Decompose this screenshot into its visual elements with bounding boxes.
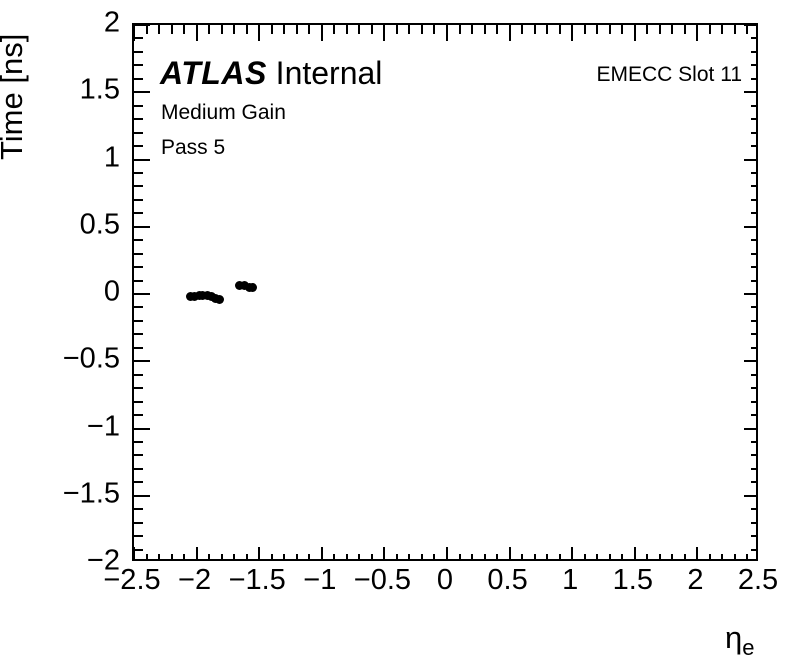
y-axis-tick: [134, 535, 143, 537]
x-axis-tick: [496, 554, 498, 559]
y-axis-tick: [751, 535, 756, 537]
x-axis-tick: [721, 554, 723, 559]
y-tick-label: 2: [104, 9, 120, 38]
x-axis-tick: [433, 25, 435, 34]
y-axis-tick: [134, 64, 143, 66]
x-axis-tick: [271, 554, 273, 559]
y-axis-tick: [134, 132, 143, 134]
x-axis-tick: [571, 547, 573, 559]
y-axis-tick: [751, 51, 756, 53]
x-axis-tick: [321, 547, 323, 559]
x-axis-tick: [596, 25, 598, 34]
x-axis-tick: [396, 554, 398, 559]
x-axis-tick: [246, 554, 248, 559]
x-axis-tick: [696, 25, 698, 41]
y-axis-tick: [134, 347, 143, 349]
x-axis-tick: [158, 25, 160, 34]
x-axis-tick: [446, 25, 448, 41]
y-axis-tick: [134, 468, 143, 470]
y-axis-tick: [751, 401, 756, 403]
y-axis-tick: [751, 37, 756, 39]
x-axis-tick: [659, 554, 661, 559]
x-axis-tick: [509, 547, 511, 559]
y-axis-tick: [744, 91, 756, 93]
x-axis-tick: [634, 547, 636, 559]
x-axis-tick: [471, 25, 473, 34]
y-axis-tick: [744, 428, 756, 430]
y-axis-tick: [134, 145, 143, 147]
y-axis-tick: [134, 414, 143, 416]
x-axis-tick: [171, 554, 173, 559]
y-axis-tick: [134, 454, 143, 456]
y-axis-title: Time [ns]: [0, 34, 30, 160]
x-axis-tick: [271, 25, 273, 34]
x-axis-tick: [596, 554, 598, 559]
x-axis-tick: [609, 554, 611, 559]
x-axis-tick: [571, 25, 573, 41]
x-axis-tick: [746, 554, 748, 559]
x-axis-tick: [258, 547, 260, 559]
x-axis-tick: [484, 25, 486, 34]
y-axis-tick: [744, 293, 756, 295]
y-axis-tick: [751, 347, 756, 349]
x-axis-tick: [521, 554, 523, 559]
x-axis-tick: [634, 25, 636, 41]
x-axis-tick: [559, 554, 561, 559]
y-axis-tick: [751, 387, 756, 389]
x-axis-tick: [734, 25, 736, 34]
y-tick-label: 0.5: [80, 210, 120, 239]
y-axis-tick: [134, 118, 143, 120]
y-axis-tick: [134, 51, 143, 53]
y-axis-tick: [134, 91, 150, 93]
y-axis-tick: [134, 212, 143, 214]
x-axis-tick: [446, 547, 448, 559]
y-axis-tick: [751, 145, 756, 147]
x-axis-tick: [734, 554, 736, 559]
y-axis-tick: [134, 293, 150, 295]
x-tick-label: −1: [303, 566, 336, 595]
y-axis-tick: [134, 387, 143, 389]
x-axis-tick: [609, 25, 611, 34]
y-axis-tick: [751, 64, 756, 66]
y-axis-tick: [751, 266, 756, 268]
x-axis-tick: [721, 25, 723, 34]
x-axis-tick: [421, 554, 423, 559]
y-axis-tick: [134, 172, 143, 174]
x-axis-tick: [471, 554, 473, 559]
y-axis-tick: [134, 333, 143, 335]
x-axis-tick: [709, 25, 711, 34]
x-axis-tick: [534, 554, 536, 559]
x-axis-tick: [684, 554, 686, 559]
y-axis-tick: [134, 481, 143, 483]
y-axis-tick: [751, 441, 756, 443]
y-axis-tick: [751, 374, 756, 376]
x-axis-tick: [383, 547, 385, 559]
x-axis-tick: [709, 554, 711, 559]
atlas-word: ATLAS: [160, 55, 267, 91]
y-axis-tick: [134, 199, 143, 201]
y-axis-tick: [744, 495, 756, 497]
x-axis-tick: [333, 25, 335, 34]
x-tick-label: 0.5: [487, 566, 527, 595]
y-axis-tick: [751, 212, 756, 214]
y-axis-tick: [134, 159, 150, 161]
x-axis-tick: [358, 25, 360, 34]
x-axis-tick: [421, 25, 423, 34]
x-axis-tick: [208, 25, 210, 34]
y-axis-tick: [751, 306, 756, 308]
y-axis-tick: [751, 454, 756, 456]
x-axis-tick: [459, 554, 461, 559]
x-axis-tick: [346, 25, 348, 34]
y-axis-tick: [751, 549, 756, 551]
x-axis-title-symbol: η: [725, 620, 742, 655]
x-axis-tick: [459, 25, 461, 34]
x-tick-label: −2: [178, 566, 211, 595]
y-axis-tick: [134, 185, 143, 187]
y-axis-tick: [134, 320, 143, 322]
x-tick-label: 1: [562, 566, 578, 595]
y-axis-tick: [134, 549, 143, 551]
plot-frame: ATLAS Internal Medium Gain Pass 5 EMECC …: [132, 23, 758, 561]
y-tick-label: −1: [87, 412, 120, 441]
atlas-label: ATLAS Internal: [160, 55, 382, 92]
x-tick-label: 1.5: [613, 566, 653, 595]
y-axis-tick: [744, 159, 756, 161]
x-axis-tick: [671, 25, 673, 34]
x-axis-tick: [158, 554, 160, 559]
x-axis-tick: [584, 554, 586, 559]
x-axis-tick: [296, 554, 298, 559]
annotation-slot: EMECC Slot 11: [597, 63, 743, 87]
x-axis-tick: [183, 554, 185, 559]
x-axis-tick: [233, 554, 235, 559]
y-axis-tick: [751, 132, 756, 134]
x-tick-label: −0.5: [354, 566, 411, 595]
y-axis-tick: [134, 226, 150, 228]
plot-canvas: ATLAS Internal Medium Gain Pass 5 EMECC …: [134, 25, 756, 559]
x-axis-tick: [221, 554, 223, 559]
atlas-status: Internal: [267, 55, 383, 91]
x-axis-tick: [484, 554, 486, 559]
x-axis-title: ηe: [725, 620, 755, 661]
x-axis-tick: [546, 25, 548, 34]
x-axis-tick: [321, 25, 323, 41]
y-axis-tick: [134, 25, 150, 26]
y-axis-tick: [134, 374, 143, 376]
data-point: [215, 295, 224, 304]
y-axis-tick: [751, 239, 756, 241]
y-tick-label: 0: [104, 278, 120, 307]
y-tick-label: 1: [104, 143, 120, 172]
x-axis-tick: [283, 554, 285, 559]
x-axis-tick: [396, 25, 398, 34]
x-axis-tick: [146, 25, 148, 34]
x-axis-tick: [746, 25, 748, 34]
y-tick-label: −0.5: [63, 345, 120, 374]
x-axis-tick: [584, 25, 586, 34]
y-axis-tick: [744, 360, 756, 362]
y-axis-tick: [134, 78, 143, 80]
x-axis-tick: [646, 554, 648, 559]
y-axis-tick: [134, 508, 143, 510]
x-axis-tick: [283, 25, 285, 34]
y-tick-label: 1.5: [80, 76, 120, 105]
annotation-pass: Pass 5: [161, 136, 225, 160]
y-axis-tick: [744, 226, 756, 228]
x-axis-tick: [308, 554, 310, 559]
y-axis-tick: [751, 481, 756, 483]
x-tick-label: −1.5: [229, 566, 286, 595]
y-axis-tick: [134, 441, 143, 443]
y-axis-tick: [751, 118, 756, 120]
x-axis-tick: [258, 25, 260, 41]
x-tick-label: −2.5: [103, 566, 160, 595]
x-axis-tick: [496, 25, 498, 34]
y-axis-tick: [751, 185, 756, 187]
x-axis-tick: [196, 547, 198, 559]
y-axis-tick: [134, 495, 150, 497]
x-axis-tick: [659, 25, 661, 34]
y-axis-tick: [751, 172, 756, 174]
y-axis-tick: [751, 320, 756, 322]
x-axis-tick: [646, 25, 648, 34]
x-axis-tick: [146, 554, 148, 559]
y-axis-tick: [134, 253, 143, 255]
y-axis-tick: [751, 199, 756, 201]
x-axis-tick: [171, 25, 173, 34]
x-axis-tick: [221, 25, 223, 34]
y-axis-tick: [751, 253, 756, 255]
x-axis-tick: [183, 25, 185, 34]
x-axis-title-subscript: e: [742, 635, 754, 660]
x-axis-tick: [208, 554, 210, 559]
x-axis-tick: [246, 25, 248, 34]
x-axis-tick: [196, 25, 198, 41]
x-axis-tick: [559, 25, 561, 34]
y-axis-tick: [751, 280, 756, 282]
data-point: [248, 283, 257, 292]
y-axis-tick: [751, 414, 756, 416]
y-axis-tick: [751, 78, 756, 80]
x-axis-tick: [621, 554, 623, 559]
x-axis-tick: [534, 25, 536, 34]
y-axis-tick: [134, 401, 143, 403]
x-axis-tick: [296, 25, 298, 34]
x-axis-tick: [358, 554, 360, 559]
x-axis-tick: [546, 554, 548, 559]
x-axis-tick: [671, 554, 673, 559]
y-axis-tick: [134, 428, 150, 430]
x-axis-tick: [233, 25, 235, 34]
y-tick-label: −1.5: [63, 479, 120, 508]
y-axis-tick: [134, 37, 143, 39]
x-tick-label: 2.5: [738, 566, 778, 595]
x-axis-tick: [371, 554, 373, 559]
y-axis-tick: [134, 239, 143, 241]
x-axis-tick: [621, 25, 623, 34]
x-axis-tick: [346, 554, 348, 559]
annotation-gain: Medium Gain: [161, 101, 286, 125]
x-axis-tick: [696, 547, 698, 559]
x-axis-tick: [383, 25, 385, 41]
x-axis-tick: [408, 554, 410, 559]
y-axis-tick: [751, 105, 756, 107]
x-axis-tick: [308, 25, 310, 34]
y-axis-tick: [134, 522, 143, 524]
y-axis-tick: [134, 105, 143, 107]
x-tick-label: 0: [437, 566, 453, 595]
x-tick-label: 2: [687, 566, 703, 595]
x-axis-tick: [408, 25, 410, 34]
x-axis-tick: [371, 25, 373, 34]
x-axis-tick: [433, 554, 435, 559]
y-axis-tick: [134, 266, 143, 268]
y-axis-tick: [751, 333, 756, 335]
y-axis-tick: [751, 468, 756, 470]
x-axis-tick: [509, 25, 511, 41]
y-axis-tick: [751, 522, 756, 524]
y-axis-tick: [751, 508, 756, 510]
y-axis-tick: [134, 280, 143, 282]
x-axis-tick: [521, 25, 523, 34]
y-axis-tick: [744, 25, 756, 26]
chart-root: Time [ns] ηe 21.510.50−0.5−1−1.5−2 −2.5−…: [0, 0, 796, 672]
x-axis-tick: [684, 25, 686, 34]
y-axis-tick: [134, 360, 150, 362]
y-axis-tick: [134, 306, 143, 308]
x-axis-tick: [333, 554, 335, 559]
